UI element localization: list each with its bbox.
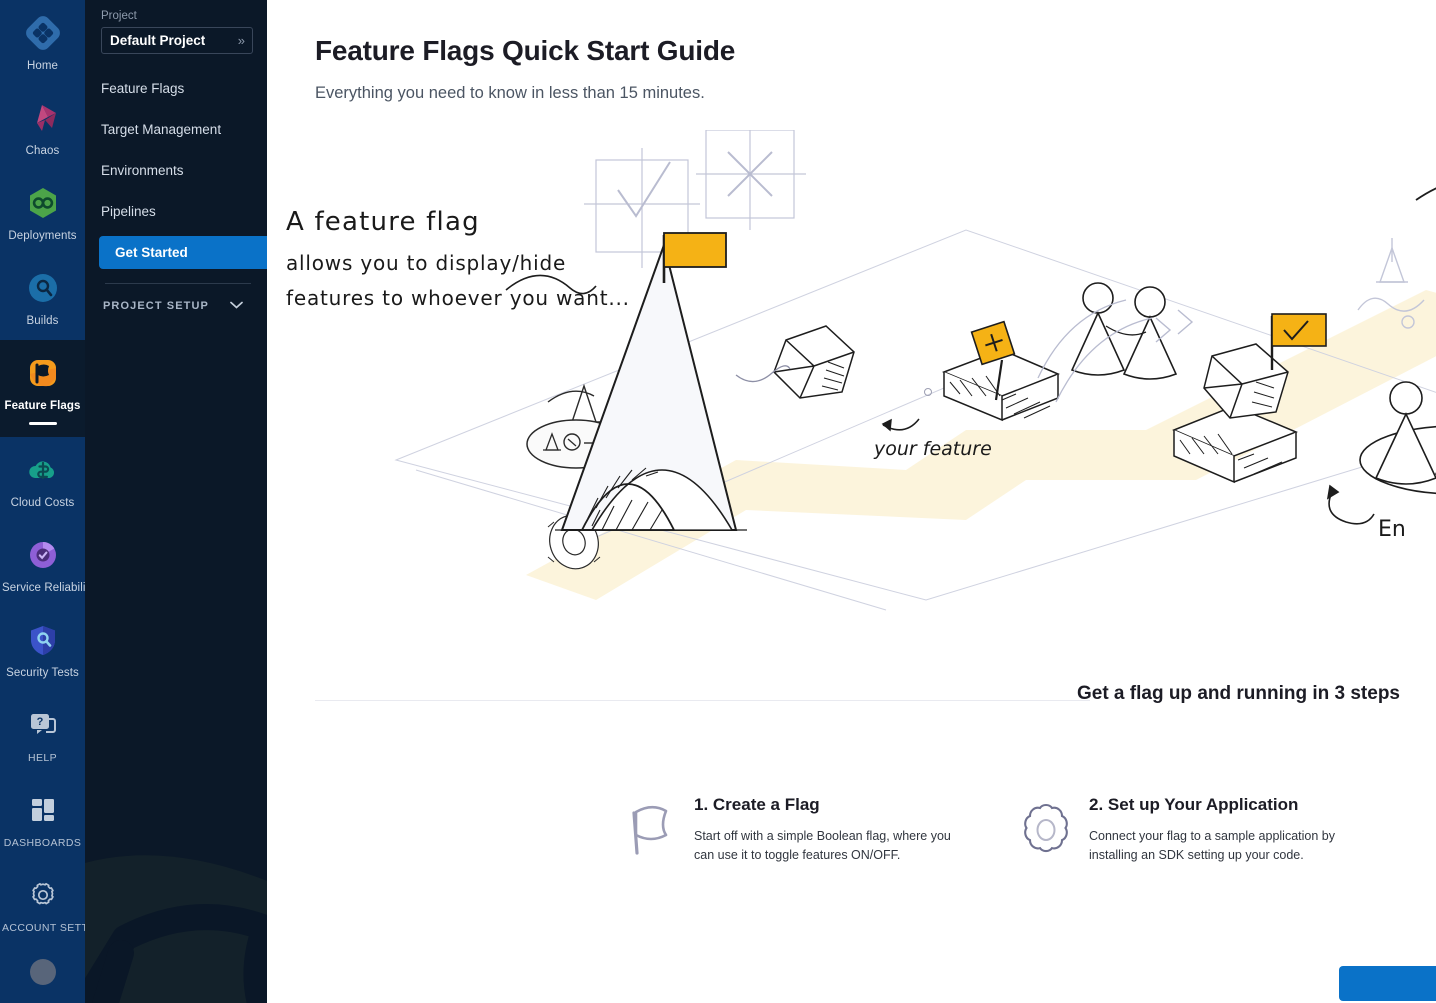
- rail-item-cloud-costs[interactable]: Cloud Costs: [0, 437, 85, 522]
- gear-icon: [24, 876, 62, 914]
- project-label: Project: [85, 10, 267, 27]
- builds-icon: [24, 269, 62, 307]
- chaos-icon: [24, 99, 62, 137]
- sidebar-item-environments[interactable]: Environments: [85, 154, 267, 187]
- sidebar-item-pipelines[interactable]: Pipelines: [85, 195, 267, 228]
- annotation-env: En: [1378, 517, 1406, 542]
- page-title: Feature Flags Quick Start Guide: [315, 35, 735, 67]
- sidebar-section-label: PROJECT SETUP: [103, 300, 209, 312]
- main-content: Feature Flags Quick Start Guide Everythi…: [267, 0, 1436, 1003]
- step-title: 1. Create a Flag: [694, 795, 1017, 815]
- rail-label-home: Home: [2, 59, 83, 73]
- primary-nav-rail: Home Chaos Deployments: [0, 0, 85, 1003]
- steps-heading: Get a flag up and running in 3 steps: [1077, 683, 1400, 705]
- gear-outline-icon: [1017, 795, 1089, 865]
- sidebar-item-label: Target Management: [101, 122, 221, 137]
- flag-watermark-icon: [85, 763, 267, 1003]
- flag-outline-icon: [622, 795, 694, 865]
- rail-label-help: HELP: [2, 751, 83, 765]
- step-description: Start off with a simple Boolean flag, wh…: [694, 827, 962, 865]
- rail-item-feature-flags[interactable]: Feature Flags: [0, 340, 85, 437]
- illustration-caption-line3: features to whoever you want...: [286, 286, 630, 310]
- project-selector[interactable]: Default Project »: [101, 27, 253, 54]
- home-diamond-icon: [24, 14, 62, 52]
- hero-illustration: your feature: [267, 130, 1436, 650]
- sidebar-item-label: Pipelines: [101, 204, 156, 219]
- annotation-your-feature: your feature: [873, 438, 992, 460]
- rail-item-security-tests[interactable]: Security Tests: [0, 607, 85, 692]
- get-started-button[interactable]: Get Started: [1339, 966, 1436, 1001]
- sidebar-item-label: Environments: [101, 163, 184, 178]
- chevron-double-right-icon: »: [238, 34, 245, 47]
- rail-label-service-reliability: Service Reliability: [2, 581, 83, 595]
- svg-text:?: ?: [36, 716, 43, 728]
- rail-label-cloud-costs: Cloud Costs: [2, 496, 83, 510]
- rail-item-avatar[interactable]: [0, 947, 85, 1003]
- sidebar-item-label: Feature Flags: [101, 81, 184, 96]
- sidebar-item-target-management[interactable]: Target Management: [85, 113, 267, 146]
- rail-label-builds: Builds: [2, 314, 83, 328]
- step-create-a-flag: 1. Create a Flag Start off with a simple…: [622, 795, 1017, 865]
- chevron-down-icon: [230, 300, 243, 312]
- rail-item-help[interactable]: ? HELP: [0, 692, 85, 777]
- sidebar-item-label: Get Started: [101, 245, 188, 260]
- help-icon: ?: [24, 706, 62, 744]
- active-indicator: [29, 422, 57, 425]
- page-subtitle: Everything you need to know in less than…: [315, 84, 705, 103]
- project-nav-panel: Project Default Project » Feature Flags …: [85, 0, 267, 1003]
- sidebar-item-feature-flags[interactable]: Feature Flags: [85, 72, 267, 105]
- rail-item-deployments[interactable]: Deployments: [0, 170, 85, 255]
- rail-label-feature-flags: Feature Flags: [2, 399, 83, 413]
- rail-label-chaos: Chaos: [2, 144, 83, 158]
- feature-flags-icon: [24, 354, 62, 392]
- rail-item-account-settings[interactable]: ACCOUNT SETTINGS: [0, 862, 85, 947]
- step-description: Connect your flag to a sample applicatio…: [1089, 827, 1357, 865]
- service-reliability-icon: [24, 536, 62, 574]
- rail-label-account-settings: ACCOUNT SETTINGS: [2, 921, 83, 935]
- project-nav-list: Feature Flags Target Management Environm…: [85, 72, 267, 269]
- rail-item-dashboards[interactable]: DASHBOARDS: [0, 777, 85, 862]
- dashboards-icon: [24, 791, 62, 829]
- rail-label-dashboards: DASHBOARDS: [2, 836, 83, 850]
- rail-item-builds[interactable]: Builds: [0, 255, 85, 340]
- sidebar-item-get-started[interactable]: Get Started: [99, 236, 267, 269]
- security-tests-icon: [24, 621, 62, 659]
- cloud-costs-icon: [24, 451, 62, 489]
- rail-item-home[interactable]: Home: [0, 0, 85, 85]
- rail-label-security-tests: Security Tests: [2, 666, 83, 680]
- sidebar-section-project-setup[interactable]: PROJECT SETUP: [85, 284, 267, 312]
- rail-item-service-reliability[interactable]: Service Reliability: [0, 522, 85, 607]
- steps-list: 1. Create a Flag Start off with a simple…: [622, 795, 1412, 865]
- rail-label-deployments: Deployments: [2, 229, 83, 243]
- step-set-up-your-application: 2. Set up Your Application Connect your …: [1017, 795, 1412, 865]
- illustration-caption-line1: A feature flag: [286, 207, 480, 237]
- project-selector-value: Default Project: [110, 33, 205, 48]
- illustration-caption-line2: allows you to display/hide: [286, 251, 566, 275]
- rail-item-chaos[interactable]: Chaos: [0, 85, 85, 170]
- avatar: [24, 953, 62, 991]
- deployments-icon: [24, 184, 62, 222]
- app-root: Home Chaos Deployments: [0, 0, 1436, 1003]
- section-divider: [315, 700, 1090, 701]
- step-title: 2. Set up Your Application: [1089, 795, 1412, 815]
